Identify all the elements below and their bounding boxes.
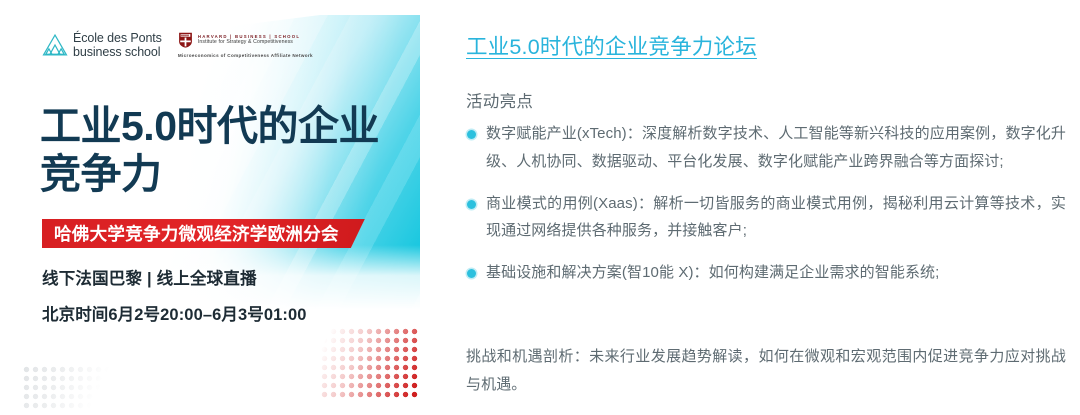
harvard-institute-line: Institute for Strategy & Competitiveness xyxy=(198,39,300,46)
triangle-sierpinski-icon xyxy=(42,33,68,57)
poster-footer: 线下法国巴黎 | 线上全球直播 北京时间6月2号20:00–6月3号01:00 xyxy=(42,265,307,325)
bullet-dot-icon xyxy=(467,130,476,139)
list-item-text: 数字赋能产业(xTech)：深度解析数字技术、人工智能等新兴科技的应用案例，数字… xyxy=(486,125,1066,170)
poster-headline-line-2: 竞争力 xyxy=(40,151,400,199)
harvard-logo-top: HARVARD | BUSINESS | SCHOOL Institute fo… xyxy=(178,32,313,48)
page-root: École des Ponts business school xyxy=(0,0,1080,415)
list-item-text: 商业模式的用例(Xaas)：解析一切皆服务的商业模式用例，揭秘利用云计算等技术，… xyxy=(486,195,1066,240)
highlights-list: 数字赋能产业(xTech)：深度解析数字技术、人工智能等新兴科技的应用案例，数字… xyxy=(466,120,1066,301)
red-dot-grid-decoration xyxy=(320,327,420,399)
harvard-logo-text: HARVARD | BUSINESS | SCHOOL Institute fo… xyxy=(198,34,300,47)
poster-datetime-line: 北京时间6月2号20:00–6月3号01:00 xyxy=(42,301,307,325)
section-label-highlights: 活动亮点 xyxy=(466,88,533,112)
poster-headline: 工业5.0时代的企业 竞争力 xyxy=(40,103,400,199)
closing-paragraph: 挑战和机遇剖析：未来行业发展趋势解读，如何在微观和宏观范围内促进竞争力应对挑战与… xyxy=(466,343,1066,399)
list-item: 数字赋能产业(xTech)：深度解析数字技术、人工智能等新兴科技的应用案例，数字… xyxy=(466,120,1066,176)
poster-venue-line: 线下法国巴黎 | 线上全球直播 xyxy=(42,265,307,289)
article-heading[interactable]: 工业5.0时代的企业竞争力论坛 xyxy=(466,30,757,61)
event-poster-image: École des Ponts business school xyxy=(20,15,420,415)
ecole-des-ponts-logo: École des Ponts business school xyxy=(42,31,162,59)
list-item: 商业模式的用例(Xaas)：解析一切皆服务的商业模式用例，揭秘利用云计算等技术，… xyxy=(466,190,1066,246)
list-item-text: 基础设施和解决方案(智10能 X)：如何构建满足企业需求的智能系统; xyxy=(486,264,939,281)
poster-logo-row: École des Ponts business school xyxy=(42,31,313,59)
ecole-line-2: business school xyxy=(73,45,162,59)
harvard-shield-icon xyxy=(178,32,193,48)
harvard-business-school-logo: HARVARD | BUSINESS | SCHOOL Institute fo… xyxy=(178,32,313,58)
poster-content: École des Ponts business school xyxy=(20,15,420,415)
bullet-dot-icon xyxy=(467,269,476,278)
gray-dot-grid-decoration xyxy=(22,365,112,409)
list-item: 基础设施和解决方案(智10能 X)：如何构建满足企业需求的智能系统; xyxy=(466,259,1066,287)
bullet-dot-icon xyxy=(467,200,476,209)
ecole-des-ponts-wordmark: École des Ponts business school xyxy=(73,31,162,59)
ecole-line-1: École des Ponts xyxy=(73,31,162,45)
harvard-network-line: Microeconomics of Competitiveness Affili… xyxy=(178,53,313,58)
poster-red-ribbon: 哈佛大学竞争力微观经济学欧洲分会 xyxy=(42,219,365,248)
article-content: 工业5.0时代的企业竞争力论坛 活动亮点 数字赋能产业(xTech)：深度解析数… xyxy=(466,0,1066,415)
poster-headline-line-1: 工业5.0时代的企业 xyxy=(40,103,400,151)
